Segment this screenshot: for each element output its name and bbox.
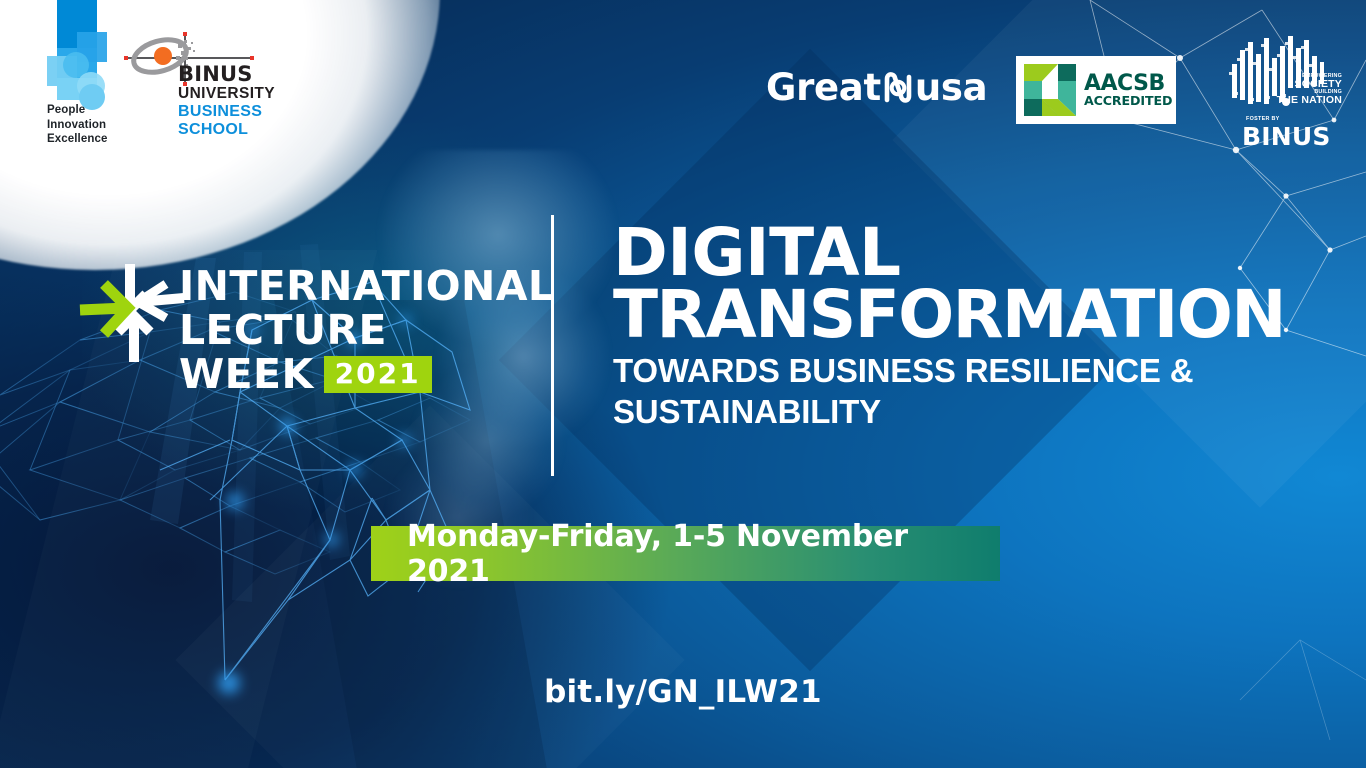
ilw-line-lecture: LECTURE	[179, 308, 554, 352]
aacsb-accredited-label: ACCREDITED	[1084, 94, 1172, 107]
converging-arrows-icon	[74, 258, 190, 368]
aacsb-name: AACSB	[1084, 73, 1172, 94]
binus-tagline: EMPOWERING SOCIETY BUILDING THE NATION	[1277, 74, 1342, 106]
greatnusa-text-after: usa	[915, 66, 987, 109]
ilw-line-week: WEEK	[179, 352, 314, 396]
aacsb-pinwheel-icon	[1024, 64, 1076, 116]
binus-fostered-logo: EMPOWERING SOCIETY BUILDING THE NATION F…	[1224, 28, 1344, 140]
network-node-glow	[347, 462, 362, 477]
binus-wordmark: BINUS UNIVERSITY BUSINESS SCHOOL	[178, 64, 275, 139]
aacsb-accredited-logo: AACSB ACCREDITED	[1016, 56, 1176, 124]
headline-subtitle: TOWARDS BUSINESS RESILIENCE & SUSTAINABI…	[613, 350, 1313, 432]
ilw-wordmark: INTERNATIONAL LECTURE WEEK 2021	[179, 264, 554, 396]
binus-right-name: BINUS	[1242, 122, 1331, 151]
network-node-glow	[324, 532, 339, 547]
network-node-glow	[398, 434, 411, 447]
date-banner: Monday-Friday, 1-5 November 2021	[371, 526, 1000, 581]
aacsb-wordmark: AACSB ACCREDITED	[1084, 73, 1172, 107]
ilw-year-badge: 2021	[324, 356, 432, 393]
headline-line2: TRANSFORMATION	[613, 284, 1313, 346]
binus-business-school-logo: BINUS UNIVERSITY BUSINESS SCHOOL	[122, 32, 272, 144]
greatnusa-logo: Great usa	[766, 66, 987, 109]
binus-school-label: SCHOOL	[178, 121, 275, 139]
greatnusa-text-before: Great	[766, 66, 881, 109]
ilw-line-international: INTERNATIONAL	[179, 264, 554, 308]
greatnusa-knot-icon	[880, 69, 916, 107]
binus-mark-tick	[250, 56, 254, 60]
headline-divider	[551, 215, 554, 476]
date-text: Monday-Friday, 1-5 November 2021	[407, 519, 1000, 589]
binus-university-label: UNIVERSITY	[178, 85, 275, 103]
binus-name: BINUS	[178, 64, 275, 85]
poster-canvas: People Innovation Excellence BINUS UNIVE…	[0, 0, 1366, 768]
binus-business-label: BUSINESS	[178, 103, 275, 121]
headline-line1: DIGITAL	[613, 222, 1313, 284]
international-lecture-week-logo: INTERNATIONAL LECTURE WEEK 2021	[74, 258, 504, 428]
network-node-glow	[226, 492, 244, 510]
headline-block: DIGITAL TRANSFORMATION TOWARDS BUSINESS …	[613, 222, 1313, 432]
ilw-line-week-year: WEEK 2021	[179, 352, 554, 396]
registration-url[interactable]: bit.ly/GN_ILW21	[0, 674, 1366, 710]
binus-tagline-nation: THE NATION	[1277, 95, 1342, 106]
